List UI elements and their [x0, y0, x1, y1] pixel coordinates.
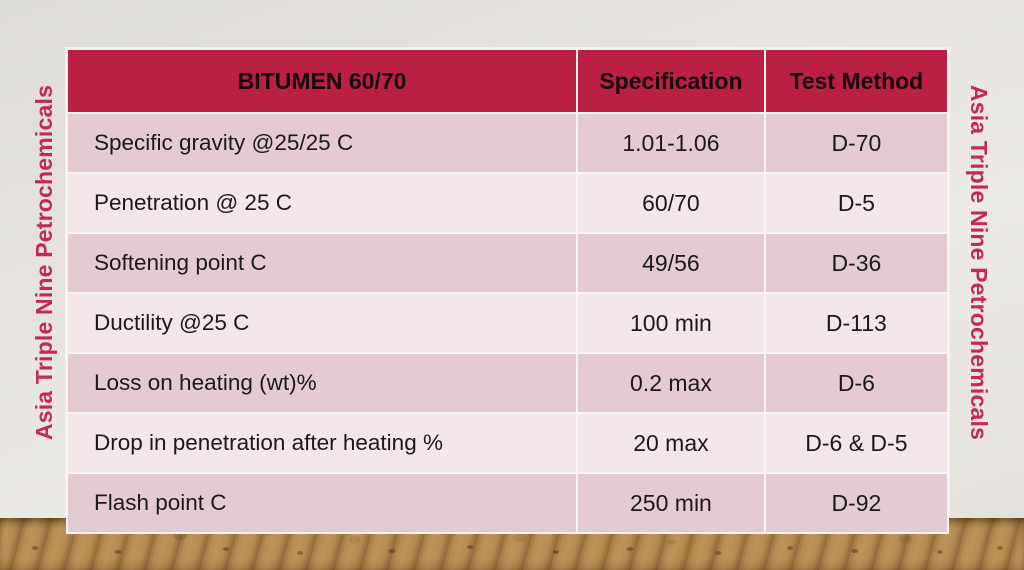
table-body: Specific gravity @25/25 C1.01-1.06D-70Pe…	[67, 113, 948, 533]
cell-test-method: D-70	[765, 113, 948, 173]
table-row: Drop in penetration after heating %20 ma…	[67, 413, 948, 473]
table-row: Softening point C49/56D-36	[67, 233, 948, 293]
cell-property: Specific gravity @25/25 C	[67, 113, 577, 173]
specification-table-container: BITUMEN 60/70 Specification Test Method …	[65, 47, 950, 517]
cell-test-method: D-6 & D-5	[765, 413, 948, 473]
cell-test-method: D-92	[765, 473, 948, 533]
table-row: Specific gravity @25/25 C1.01-1.06D-70	[67, 113, 948, 173]
table-row: Loss on heating (wt)%0.2 maxD-6	[67, 353, 948, 413]
cell-property: Softening point C	[67, 233, 577, 293]
table-row: Penetration @ 25 C60/70D-5	[67, 173, 948, 233]
header-specification: Specification	[577, 49, 765, 113]
left-side-banner-text: Asia Triple Nine Petrochemicals	[32, 85, 59, 440]
cell-property: Penetration @ 25 C	[67, 173, 577, 233]
table-row: Ductility @25 C100 minD-113	[67, 293, 948, 353]
bitumen-specification-table: BITUMEN 60/70 Specification Test Method …	[66, 48, 949, 534]
right-side-banner-text: Asia Triple Nine Petrochemicals	[966, 85, 993, 440]
cell-property: Ductility @25 C	[67, 293, 577, 353]
right-side-banner: Asia Triple Nine Petrochemicals	[956, 0, 1002, 525]
cell-specification: 0.2 max	[577, 353, 765, 413]
cell-specification: 49/56	[577, 233, 765, 293]
table-header-row: BITUMEN 60/70 Specification Test Method	[67, 49, 948, 113]
cell-specification: 60/70	[577, 173, 765, 233]
cell-property: Flash point C	[67, 473, 577, 533]
cell-specification: 250 min	[577, 473, 765, 533]
table-row: Flash point C250 minD-92	[67, 473, 948, 533]
header-test-method: Test Method	[765, 49, 948, 113]
cell-specification: 1.01-1.06	[577, 113, 765, 173]
cell-property: Loss on heating (wt)%	[67, 353, 577, 413]
slide-canvas: Asia Triple Nine Petrochemicals Asia Tri…	[0, 0, 1024, 570]
cell-specification: 20 max	[577, 413, 765, 473]
header-property: BITUMEN 60/70	[67, 49, 577, 113]
left-side-banner: Asia Triple Nine Petrochemicals	[22, 0, 68, 525]
cell-test-method: D-113	[765, 293, 948, 353]
cell-specification: 100 min	[577, 293, 765, 353]
cell-test-method: D-6	[765, 353, 948, 413]
cell-property: Drop in penetration after heating %	[67, 413, 577, 473]
cell-test-method: D-5	[765, 173, 948, 233]
cell-test-method: D-36	[765, 233, 948, 293]
table-header: BITUMEN 60/70 Specification Test Method	[67, 49, 948, 113]
